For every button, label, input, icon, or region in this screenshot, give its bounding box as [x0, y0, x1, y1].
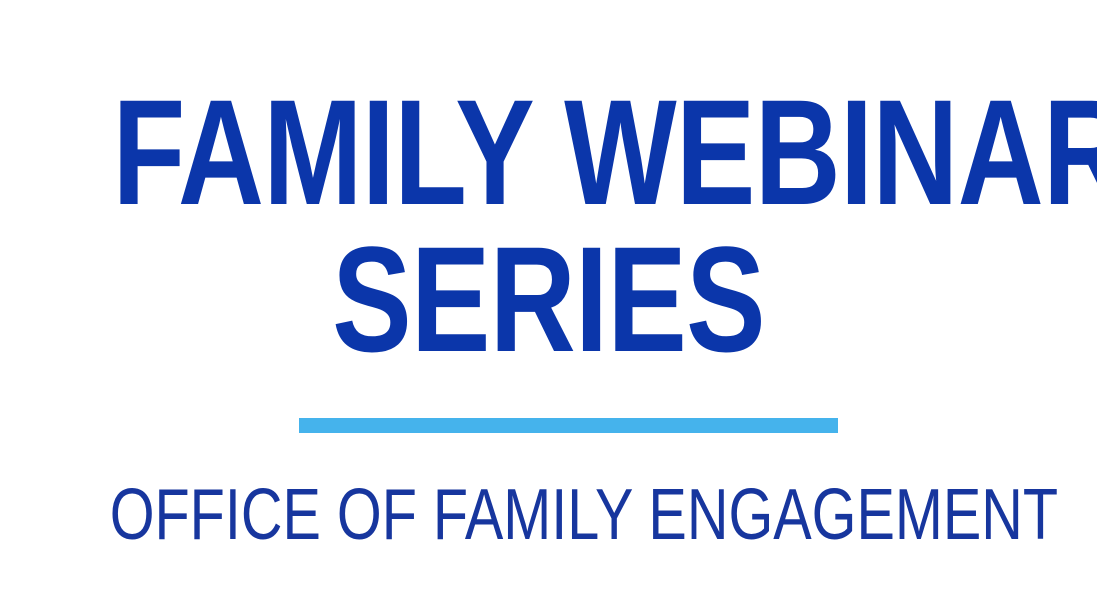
headline-line-1: FAMILY WEBINAR	[112, 77, 984, 227]
accent-divider-bar	[299, 418, 838, 433]
subtitle-office-of-family-engagement: OFFICE OF FAMILY ENGAGEMENT	[110, 479, 988, 551]
webinar-series-title-card: FAMILY WEBINAR SERIES OFFICE OF FAMILY E…	[0, 0, 1097, 614]
headline-line-2: SERIES	[112, 224, 984, 374]
